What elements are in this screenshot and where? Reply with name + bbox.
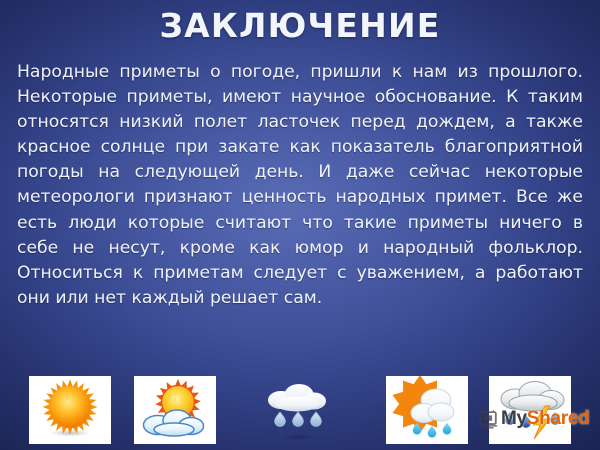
- presentation-slide: ЗАКЛЮЧЕНИЕ Народные приметы о погоде, пр…: [0, 0, 600, 450]
- body-paragraph: Народные приметы о погоде, пришли к нам …: [17, 60, 583, 311]
- weather-icon-tile-rain: [257, 376, 339, 444]
- sun-behind-cloud-icon: [134, 376, 216, 444]
- sun-cloud-rain-icon: [386, 376, 468, 444]
- page-title: ЗАКЛЮЧЕНИЕ: [159, 6, 440, 46]
- weather-icon-tile-sun-cloud-rain: [386, 376, 468, 444]
- myshared-watermark: MyShared: [477, 406, 589, 432]
- watermark-text: MyShared: [501, 408, 589, 430]
- title-bar: ЗАКЛЮЧЕНИЕ: [0, 6, 600, 46]
- myshared-logo-icon: [477, 408, 499, 430]
- rain-cloud-icon: [257, 376, 339, 444]
- sun-icon: [29, 376, 111, 444]
- weather-icon-tile-sun: [29, 376, 111, 444]
- slide-body-text: Народные приметы о погоде, пришли к нам …: [17, 60, 583, 311]
- weather-icon-tile-sun-cloud: [134, 376, 216, 444]
- watermark-prefix: My: [501, 408, 527, 429]
- watermark-accent: Shared: [527, 408, 590, 429]
